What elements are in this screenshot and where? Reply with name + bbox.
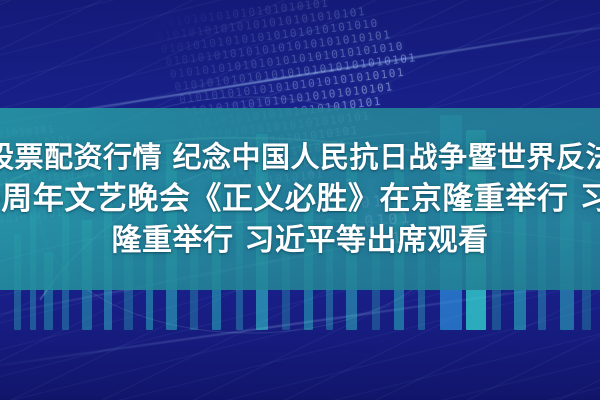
headline-block: 股票配资行情 纪念中国人民抗日战争暨世界反法 利80周年文艺晚会《正义必胜》在京… — [0, 108, 600, 290]
headline-line-2: 利80周年文艺晚会《正义必胜》在京隆重举行 习近平 — [0, 178, 600, 220]
banner-image: 0101010101010101010101010101010101010101… — [0, 0, 600, 400]
headline-line-1: 股票配资行情 纪念中国人民抗日战争暨世界反法 — [0, 136, 600, 178]
headline-line-3: 隆重举行 习近平等出席观看 — [112, 220, 489, 262]
